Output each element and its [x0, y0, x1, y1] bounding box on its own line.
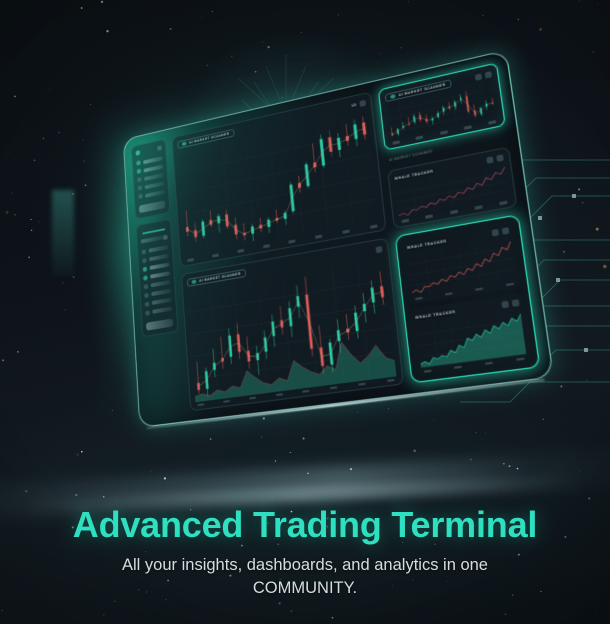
axis-tick — [450, 210, 458, 214]
sidebar-item-label — [144, 164, 163, 172]
panel-title: WHALE TRACKER — [407, 239, 447, 250]
panel-header: WHALE TRACKER — [407, 227, 510, 251]
axis-tick — [275, 393, 282, 397]
expand-icon[interactable] — [359, 100, 366, 107]
axis-tick — [506, 282, 515, 286]
whale-volume-panel[interactable]: WHALE TRACKER — [409, 293, 534, 377]
axis-tick — [454, 365, 462, 369]
panel-controls[interactable]: 1D — [351, 100, 366, 109]
logo-icon — [136, 150, 141, 156]
sidebar-item-whales[interactable] — [142, 253, 169, 263]
axis-tick — [223, 399, 230, 402]
axis-tick — [187, 258, 194, 262]
chart-icon — [182, 141, 187, 146]
axis-tick — [289, 239, 296, 243]
promotional-hero-slide: AI MARKET SCANNER 1D — [0, 0, 610, 624]
axis-tick — [415, 297, 423, 301]
section-subtitle: AI MARKET SCANNER — [386, 132, 508, 163]
axis-tick — [402, 219, 410, 223]
page-title: Advanced Trading Terminal — [0, 504, 610, 545]
sidebar-item-label — [152, 298, 172, 305]
axis-tick — [302, 389, 309, 393]
dashboard-bottom-right-column: WHALE TRACKER — [395, 214, 541, 384]
minimize-icon[interactable] — [475, 73, 482, 81]
whale-line-plot — [395, 163, 509, 218]
history-icon — [144, 292, 149, 298]
axis-tick — [237, 249, 244, 253]
chart-icon — [192, 279, 197, 284]
axis-tick — [263, 244, 270, 248]
minimize-icon[interactable] — [486, 156, 494, 164]
whale2-x-axis — [413, 280, 517, 301]
sidebar-active-indicator — [142, 228, 165, 234]
axis-tick — [425, 214, 433, 218]
sidebar-section-label — [141, 235, 163, 243]
sidebar-item-label — [143, 156, 162, 164]
sidebar-primary-action-button[interactable] — [139, 200, 166, 213]
gear-icon — [145, 301, 150, 307]
panel-controls[interactable] — [486, 154, 504, 164]
axis-tick — [330, 386, 338, 390]
expand-icon[interactable] — [496, 154, 504, 162]
dashboard-icon — [136, 160, 141, 166]
axis-tick — [392, 140, 400, 144]
signals-icon — [137, 177, 142, 183]
sidebar-item-label — [149, 245, 169, 253]
axis-tick — [474, 205, 482, 209]
sidebar-header — [136, 145, 162, 155]
timeframe-label: 1D — [351, 103, 357, 108]
minimize-icon[interactable] — [491, 228, 499, 236]
sidebar-item-label — [150, 271, 170, 278]
sidebar-item-scanner[interactable] — [143, 262, 170, 272]
trading-terminal-device: AI MARKET SCANNER 1D — [123, 50, 554, 428]
axis-tick — [315, 234, 322, 238]
axis-tick — [358, 382, 366, 386]
whale-icon — [142, 257, 147, 263]
axis-tick — [475, 287, 483, 291]
sidebar-item-label — [150, 262, 170, 269]
axis-tick — [445, 292, 453, 296]
sidebar-secondary-nav[interactable] — [136, 218, 179, 336]
hero-caption: Advanced Trading Terminal All your insig… — [0, 504, 610, 600]
reports-icon — [144, 283, 149, 289]
dashboard-top-right-column: AI MARKET SCANNER — [378, 62, 517, 228]
portfolio-icon — [138, 194, 143, 200]
alerts-icon — [138, 185, 143, 191]
expand-icon[interactable] — [502, 227, 510, 235]
whale3-x-axis — [421, 354, 527, 373]
highlighted-whale-group[interactable]: WHALE TRACKER — [395, 214, 541, 384]
axis-tick — [212, 253, 219, 257]
axis-tick — [499, 201, 507, 205]
axis-tick — [424, 369, 432, 373]
axis-tick — [197, 403, 204, 406]
axis-tick — [485, 361, 493, 365]
whale-tracker-plot — [408, 236, 516, 296]
sidebar-item-label — [151, 289, 171, 296]
axis-tick — [464, 125, 472, 129]
sidebar-item-label — [149, 254, 169, 261]
axis-tick — [516, 357, 525, 361]
expand-icon[interactable] — [512, 299, 520, 307]
page-subtitle: All your insights, dashboards, and analy… — [75, 554, 535, 600]
axis-tick — [439, 130, 447, 134]
dashboard-main-content: AI MARKET SCANNER 1D — [172, 62, 541, 411]
sidebar-item-reports[interactable] — [144, 280, 171, 290]
whale-tracker-panel[interactable]: WHALE TRACKER — [401, 220, 523, 305]
markets-icon — [137, 169, 142, 175]
panel-controls[interactable] — [491, 227, 509, 237]
sidebar-secondary-action-button[interactable] — [146, 318, 174, 330]
